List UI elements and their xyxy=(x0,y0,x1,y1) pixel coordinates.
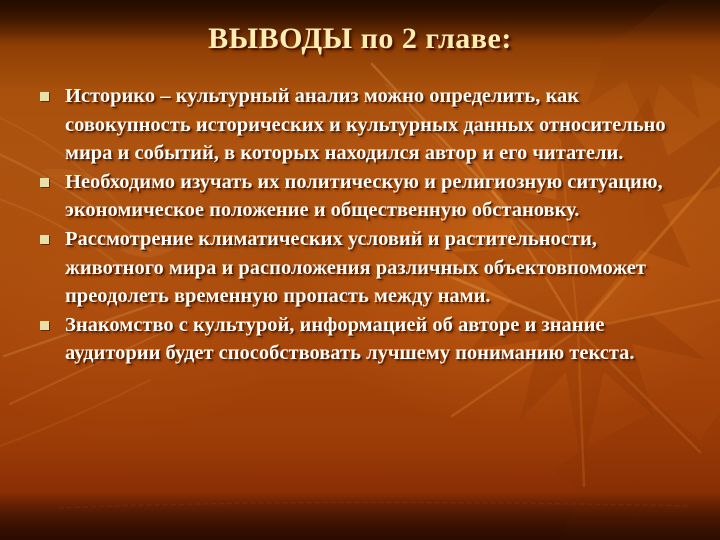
slide-title: ВЫВОДЫ по 2 главе: xyxy=(0,22,720,56)
bullet-square-icon xyxy=(40,92,49,101)
bullet-square-icon xyxy=(40,321,49,330)
bullet-square-icon xyxy=(40,235,49,244)
list-item-text: Знакомство с культурой, информацией об а… xyxy=(65,311,690,368)
list-item-text: Необходимо изучать их политическую и рел… xyxy=(65,168,690,225)
list-item: Историко – культурный анализ можно опред… xyxy=(40,82,690,168)
list-item: Необходимо изучать их политическую и рел… xyxy=(40,168,690,225)
list-item: Знакомство с культурой, информацией об а… xyxy=(40,311,690,368)
bullet-list: Историко – культурный анализ можно опред… xyxy=(40,82,690,368)
list-item: Рассмотрение климатических условий и рас… xyxy=(40,225,690,311)
presentation-slide: ВЫВОДЫ по 2 главе: Историко – культурный… xyxy=(0,0,720,540)
bullet-square-icon xyxy=(40,178,49,187)
list-item-text: Историко – культурный анализ можно опред… xyxy=(65,82,690,168)
list-item-text: Рассмотрение климатических условий и рас… xyxy=(65,225,690,311)
